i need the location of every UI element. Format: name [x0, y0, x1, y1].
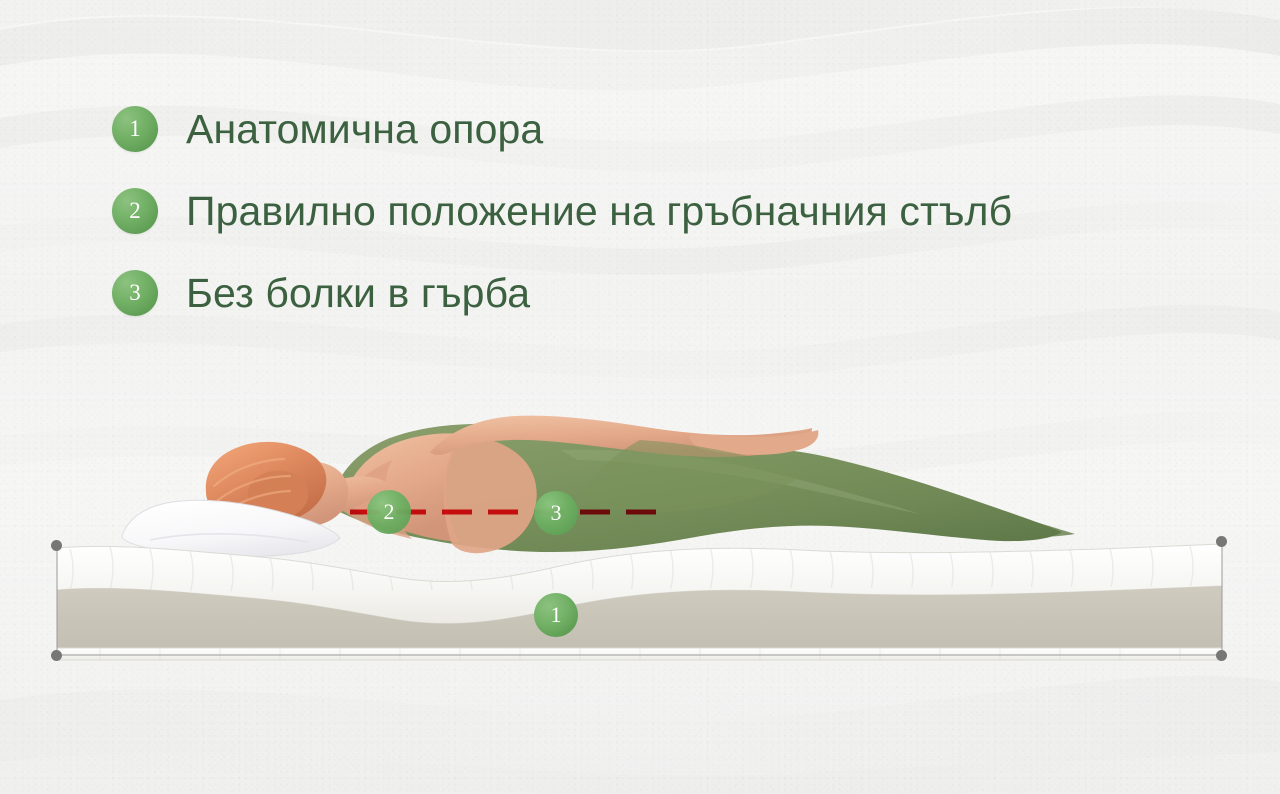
mattress-scene: [0, 0, 1280, 794]
mattress-corner-dot-bottom-right: [1216, 650, 1227, 661]
mattress-corner-dot-top-left: [51, 540, 62, 551]
scene-marker-3: 3: [534, 491, 578, 535]
scene-marker-1: 1: [534, 593, 578, 637]
mattress-corner-dot-top-right: [1216, 536, 1227, 547]
mattress-corner-dot-bottom-left: [51, 650, 62, 661]
infographic-canvas: 1 Анатомична опора 2 Правилно положение …: [0, 0, 1280, 794]
scene-marker-2: 2: [367, 490, 411, 534]
